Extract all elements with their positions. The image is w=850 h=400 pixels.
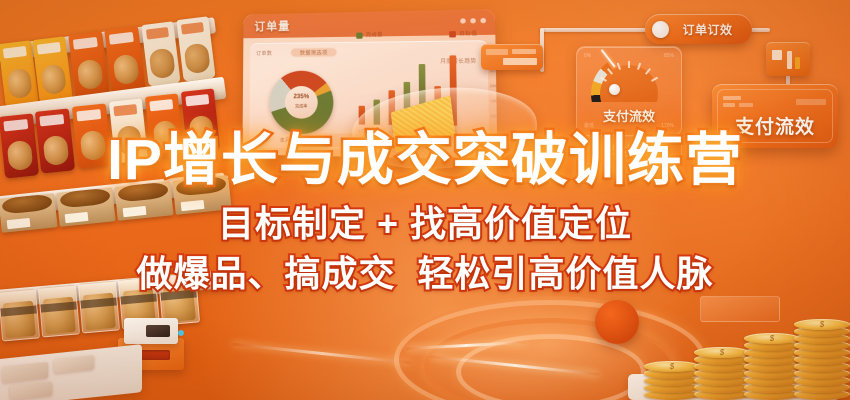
round-pedestal [595, 300, 639, 344]
gauge-label: 支付流效 [577, 106, 681, 125]
axis-label-left: 订单数 [256, 50, 272, 57]
coin-stack: $ [744, 310, 800, 400]
badge-knob-icon [652, 21, 669, 38]
page-title: IP增长与成交突破训练营 [0, 132, 850, 189]
label-widget-card[interactable] [481, 44, 543, 70]
snack-jar [38, 284, 80, 337]
mini-bar-widget[interactable] [766, 42, 810, 76]
pos-terminal-screen [124, 318, 178, 344]
coin-symbol: $ [644, 362, 700, 371]
order-badge-label: 订单订效 [669, 21, 752, 38]
subtitle-line-2: 做爆品、搞成交轻松引高价值人脉 [0, 256, 850, 292]
coin-symbol: $ [694, 348, 750, 357]
dashboard-title: 订单量 [254, 18, 290, 35]
donut-center: 235% 完成率 [270, 93, 334, 112]
coin-symbol: $ [794, 320, 850, 329]
subtitle-part-b: 轻松引高价值人脉 [418, 253, 714, 294]
gauge-hub [609, 84, 620, 95]
pos-indicator-light [178, 330, 184, 336]
window-controls[interactable] [460, 18, 486, 24]
coin-symbol: $ [744, 334, 800, 343]
subtitle-part-a: 做爆品、搞成交 [136, 253, 395, 294]
square-icon [772, 50, 782, 60]
subtitle-block-1: 目标制定 + 找高价值定位 [0, 206, 850, 242]
floor-guide-line [232, 343, 411, 365]
coin-stack: $ [794, 292, 850, 400]
donut-chart: 235% 完成率 [270, 71, 334, 135]
bar-chart-caption: 月度增长趋势 [440, 57, 476, 65]
filter-chip[interactable]: 数据筛选项 [290, 47, 337, 58]
package-slab [0, 344, 142, 400]
connector-wire [540, 28, 648, 32]
coin-stack: $ [694, 328, 750, 400]
payment-gauge-card: 0% 85% 最低 170% 支付流效 [576, 46, 682, 136]
gauge-dial [591, 56, 667, 102]
legend-item-complete: 完成量 [356, 31, 383, 39]
subtitle-block-2: 做爆品、搞成交轻松引高价值人脉 [0, 256, 850, 292]
subtitle-line-1: 目标制定 + 找高价值定位 [0, 206, 850, 242]
headline-block: IP增长与成交突破训练营 [0, 132, 850, 189]
order-efficiency-badge[interactable]: 订单订效 [645, 14, 752, 44]
promo-banner: 订单量 数据筛选项 订单数 完成量 目标值 235% 完成率 本月转化 [0, 0, 850, 400]
legend-item-target: 目标值 [449, 30, 477, 38]
coin-stack: $ [644, 344, 700, 400]
snack-jar [0, 288, 40, 341]
